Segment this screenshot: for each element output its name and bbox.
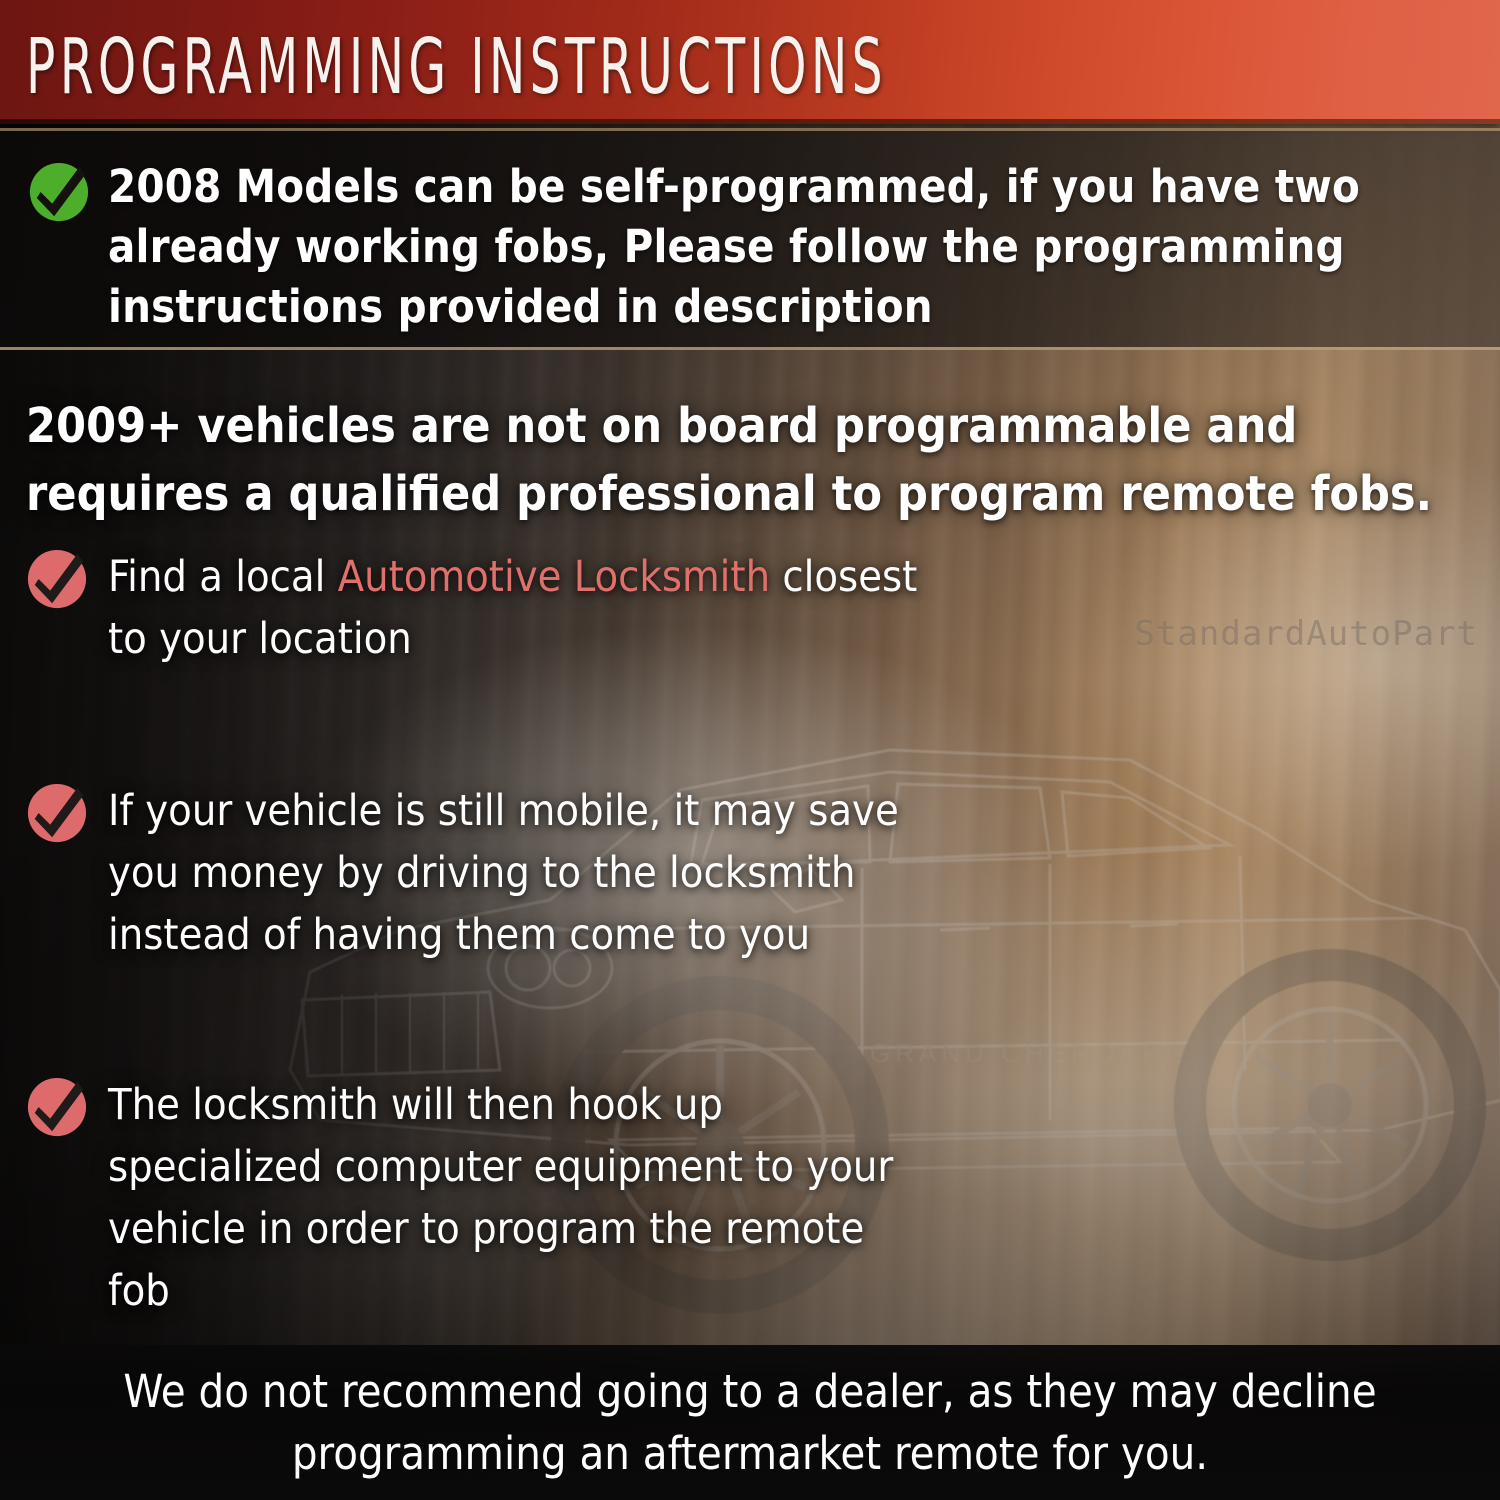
red-check-circle-icon	[26, 548, 88, 610]
list-item-text: If your vehicle is still mobile, it may …	[108, 780, 926, 966]
notice-2009-text: 2009+ vehicles are not on board programm…	[26, 392, 1446, 528]
notice-2008-text: 2008 Models can be self-programmed, if y…	[108, 157, 1398, 337]
green-check-circle-icon	[28, 161, 90, 223]
brand-watermark: StandardAutoPart	[1134, 614, 1478, 654]
list-item-text: The locksmith will then hook up speciali…	[108, 1074, 926, 1322]
list-item: If your vehicle is still mobile, it may …	[26, 780, 926, 966]
red-check-circle-icon	[26, 1076, 88, 1138]
programming-instructions-poster: GRAND CHEROKEE PROGRAMMING INSTRUCTIONS …	[0, 0, 1500, 1500]
header-banner: PROGRAMMING INSTRUCTIONS	[0, 0, 1500, 124]
automotive-locksmith-highlight: Automotive Locksmith	[338, 552, 770, 602]
locksmith-steps-list: Find a local Automotive Locksmith closes…	[26, 546, 926, 1322]
list-item-text: Find a local Automotive Locksmith closes…	[108, 546, 926, 670]
red-check-circle-icon	[26, 782, 88, 844]
footer-banner: We do not recommend going to a dealer, a…	[0, 1345, 1500, 1500]
notice-2008-panel: 2008 Models can be self-programmed, if y…	[0, 128, 1500, 350]
page-title: PROGRAMMING INSTRUCTIONS	[26, 22, 887, 111]
footer-text: We do not recommend going to a dealer, a…	[100, 1361, 1400, 1485]
list-item: Find a local Automotive Locksmith closes…	[26, 546, 926, 670]
list-item: The locksmith will then hook up speciali…	[26, 1074, 926, 1322]
list-item-text-before: Find a local	[108, 552, 338, 602]
